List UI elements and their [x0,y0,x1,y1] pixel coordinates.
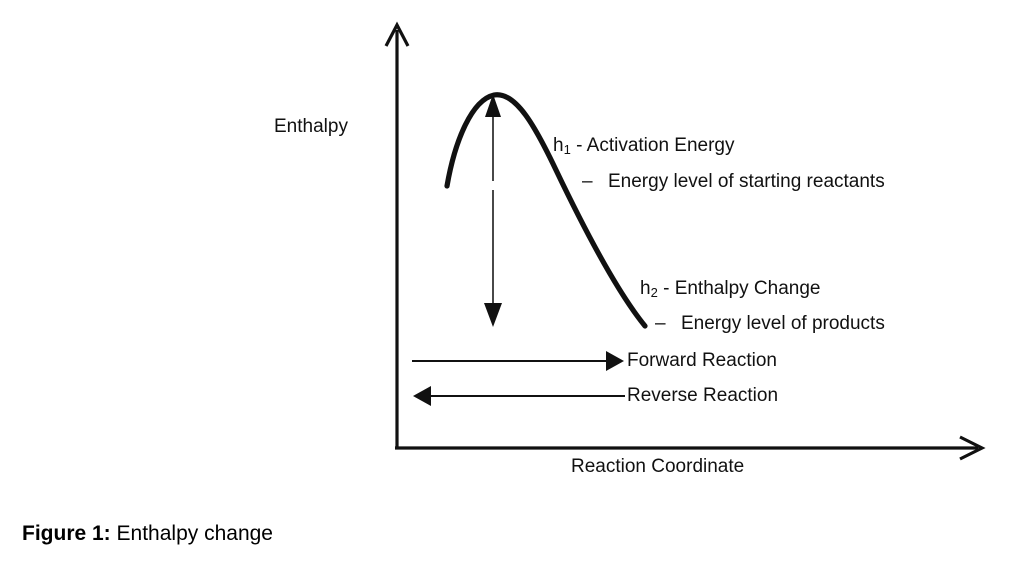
y-axis-label: Enthalpy [274,117,348,136]
h2-text: - Enthalpy Change [658,278,821,299]
h1-annotation: h1 - Activation Energy [553,136,735,156]
h2-sub-text: Energy level of products [681,313,885,334]
reverse-reaction-arrowhead-icon [413,386,431,406]
h1-text: - Activation Energy [571,135,735,156]
h1-symbol: h [553,135,564,156]
h1-dash-mark: – [582,172,608,191]
h2-symbol: h [640,278,651,299]
energy-profile-curve [447,95,645,326]
h2-sub-annotation: –Energy level of products [655,314,885,333]
h2-annotation: h2 - Enthalpy Change [640,279,820,299]
h2-subscript: 2 [651,285,658,300]
h1-sub-annotation: –Energy level of starting reactants [582,172,885,191]
h2-dash-mark: – [655,314,681,333]
figure-caption: Figure 1: Enthalpy change [22,523,273,544]
h1-subscript: 1 [564,142,571,157]
enthalpy-diagram: Enthalpy Reaction Coordinate h1 - Activa… [0,0,1024,570]
reverse-reaction-label: Reverse Reaction [627,386,778,405]
diagram-canvas [0,0,1024,570]
figure-caption-label: Figure 1: [22,522,111,545]
forward-reaction-arrowhead-icon [606,351,624,371]
forward-reaction-label: Forward Reaction [627,351,777,370]
figure-caption-text: Enthalpy change [111,522,273,545]
x-axis-label: Reaction Coordinate [571,457,744,476]
h1-sub-text: Energy level of starting reactants [608,171,885,192]
activation-energy-arrowhead-down-icon [484,303,502,327]
